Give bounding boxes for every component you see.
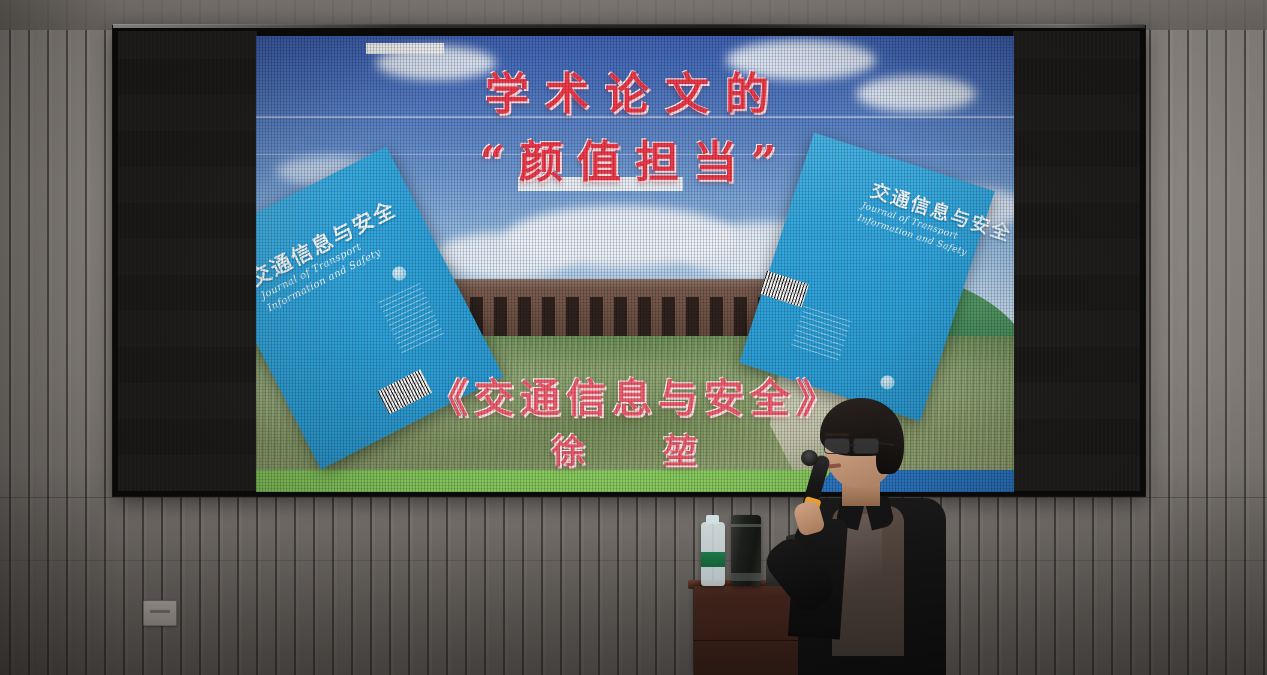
screen-unlit-panel-left [118, 31, 257, 491]
presenter-eyebrow [825, 433, 849, 436]
presentation-photo-scene: 交通信息与安全 Journal of Transport Information… [0, 0, 1267, 675]
glasses-lens-right [853, 438, 879, 454]
white-callout-bar-top [366, 43, 444, 54]
wall-seam [0, 497, 1267, 498]
vacuum-flask-base [731, 573, 761, 581]
cover-side-text-lines [378, 283, 444, 355]
vacuum-flask-ring [731, 524, 761, 527]
vest-highlight [842, 514, 882, 634]
slide-title-line2: “颜值担当” [256, 126, 1014, 190]
glasses-bridge [849, 444, 855, 446]
screen-top-highlight [113, 24, 1145, 28]
water-bottle-label [701, 552, 725, 567]
wall-outlet-plate [143, 600, 177, 626]
cover-side-text-lines [790, 306, 851, 363]
wall-seam [0, 560, 1267, 561]
presenter-figure [790, 398, 990, 675]
water-bottle-cap [706, 515, 719, 524]
cover-barcode [760, 271, 809, 307]
glasses-lens-left [824, 438, 850, 454]
cover-seal-icon [390, 264, 409, 283]
screen-unlit-panel-right [1013, 31, 1140, 491]
slide-title-line1: 学术论文的 [256, 58, 1014, 122]
cloud [436, 232, 576, 278]
